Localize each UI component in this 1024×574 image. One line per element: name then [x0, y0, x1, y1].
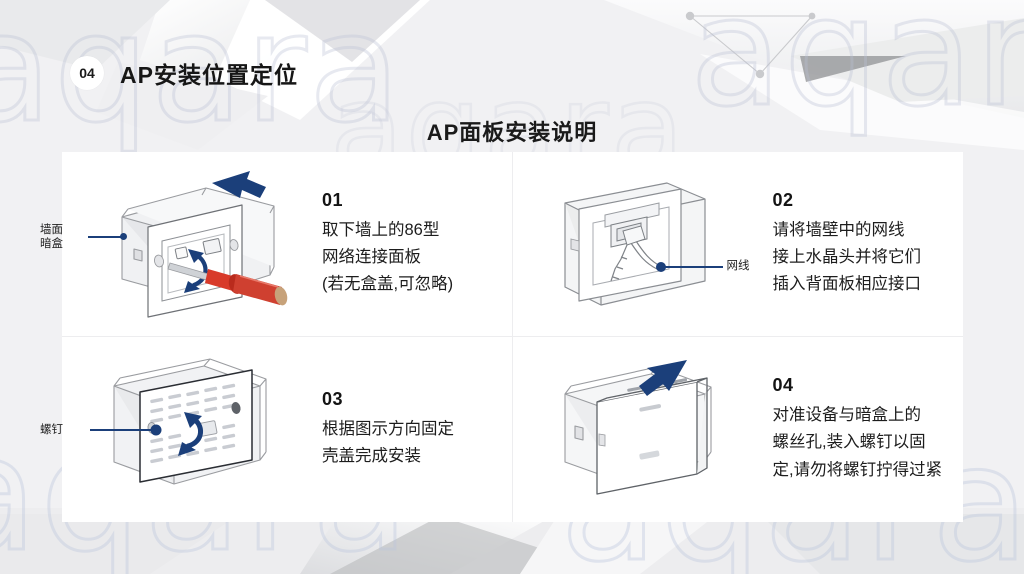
step-line: 定,请勿将螺钉拧得过紧: [773, 457, 954, 484]
callout-network-cable-label: 网线: [727, 259, 750, 273]
step-text-01: 01 取下墙上的86型 网络连接面板 (若无盒盖,可忽略): [316, 190, 502, 299]
step-line: 螺丝孔,装入螺钉以固: [773, 429, 954, 456]
callout-wall-box-label: 墙面 暗盒: [40, 223, 63, 252]
step-number: 04: [773, 375, 954, 396]
wall-box-faceplate-screwdriver-icon: [84, 157, 316, 332]
step-cell-01: 墙面 暗盒 01 取下墙上的86型 网络连接面板 (若无盒盖,可忽略): [62, 152, 513, 337]
illustration-step-03: 螺钉: [84, 342, 316, 517]
step-line: 接上水晶头并将它们: [773, 244, 954, 271]
slide-title-row: 04 AP安装位置定位: [70, 56, 298, 90]
illustration-step-02: 网线: [535, 157, 767, 332]
step-number: 01: [322, 190, 502, 211]
back-panel-rj45-cable-icon: [535, 157, 767, 332]
step-line: 壳盖完成安装: [322, 443, 502, 470]
page-title: AP安装位置定位: [120, 56, 298, 90]
instruction-card: 墙面 暗盒 01 取下墙上的86型 网络连接面板 (若无盒盖,可忽略): [62, 152, 963, 522]
step-line: 取下墙上的86型: [322, 217, 502, 244]
step-text-03: 03 根据图示方向固定 壳盖完成安装: [316, 389, 502, 470]
illustration-step-04: [535, 342, 767, 517]
step-number: 03: [322, 389, 502, 410]
step-line: 对准设备与暗盒上的: [773, 402, 954, 429]
vented-cover-fastening-icon: [84, 342, 316, 517]
slide-number-badge: 04: [70, 56, 104, 90]
step-line: 根据图示方向固定: [322, 416, 502, 443]
step-number: 02: [773, 190, 954, 211]
step-text-04: 04 对准设备与暗盒上的 螺丝孔,装入螺钉以固 定,请勿将螺钉拧得过紧: [767, 375, 954, 484]
callout-leader-line: [88, 236, 122, 238]
callout-screw-label: 螺钉: [40, 423, 63, 437]
step-cell-03: 螺钉 03 根据图示方向固定 壳盖完成安装: [62, 337, 513, 522]
step-cell-04: 04 对准设备与暗盒上的 螺丝孔,装入螺钉以固 定,请勿将螺钉拧得过紧: [513, 337, 964, 522]
step-line: 请将墙壁中的网线: [773, 217, 954, 244]
callout-leader-dot: [120, 233, 127, 240]
step-line: (若无盒盖,可忽略): [322, 271, 502, 298]
section-heading: AP面板安装说明: [0, 115, 1024, 147]
device-align-to-wall-box-icon: [535, 342, 767, 517]
step-line: 插入背面板相应接口: [773, 271, 954, 298]
illustration-step-01: 墙面 暗盒: [84, 157, 316, 332]
step-line: 网络连接面板: [322, 244, 502, 271]
step-text-02: 02 请将墙壁中的网线 接上水晶头并将它们 插入背面板相应接口: [767, 190, 954, 299]
step-cell-02: 网线 02 请将墙壁中的网线 接上水晶头并将它们 插入背面板相应接口: [513, 152, 964, 337]
